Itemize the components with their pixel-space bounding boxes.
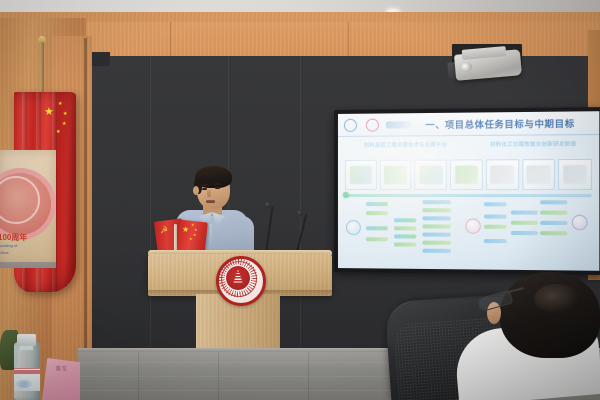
conference-room-photo: 一、项目总体任务目标与中期目标 材料基因工程关键技术与支撑平台 材料化工过程智能…: [0, 0, 600, 400]
bottle-label-emblem: [16, 380, 32, 388]
desk-flag-star-large: ★: [182, 226, 190, 235]
slide-pill: [484, 214, 507, 218]
acoustic-panel-seam: [300, 56, 301, 356]
timeline-marker: [343, 192, 349, 198]
name-card-text: 座位: [56, 366, 76, 372]
slide-pill: [366, 237, 388, 241]
slide-pill: [422, 216, 451, 220]
projection-screen-bezel: 一、项目总体任务目标与中期目标 材料基因工程关键技术与支撑平台 材料化工过程智能…: [334, 107, 600, 275]
poster-subline-1: Founding of: [0, 243, 17, 248]
speaker-ear: [193, 186, 199, 195]
logo-wordmark: [386, 121, 412, 128]
speaker-mouth: [206, 200, 215, 203]
slide-pill: [394, 226, 416, 230]
flag-star-small: ★: [58, 100, 62, 109]
desk-flag-star-small: ★: [189, 238, 193, 242]
slide-pill: [540, 231, 567, 235]
slide-pill: [511, 210, 538, 214]
slide-pill: [540, 221, 567, 225]
slide-thumbnail: 中试放大: [522, 159, 555, 190]
gooseneck-mic-left-head-icon: [265, 202, 271, 208]
slide-pill: [394, 234, 416, 238]
slide-pill: [366, 202, 388, 206]
slide-pill: [422, 232, 451, 236]
pillar-edge-shadow: [84, 38, 87, 400]
slide-title: 一、项目总体任务目标与中期目标: [412, 116, 599, 131]
flag-star-small: ★: [62, 120, 66, 129]
projection-screen[interactable]: 一、项目总体任务目标与中期目标 材料基因工程关键技术与支撑平台 材料化工过程智能…: [338, 111, 599, 271]
speaker-nose: [207, 190, 211, 197]
slide-badge-1: [346, 220, 361, 235]
flag-star-small: ★: [63, 110, 67, 119]
slide-pill: [394, 242, 416, 246]
slide-pill: [422, 224, 451, 228]
slide-badge-2: [465, 218, 480, 233]
logo-circle-blue-icon: [344, 118, 357, 131]
slide-pill: [422, 200, 451, 204]
poster-subline-2: China: [0, 250, 8, 255]
slide-thumbnail: 高通量表征: [415, 160, 447, 190]
slide-pill: [511, 221, 538, 225]
slide-badge-3: [572, 215, 588, 231]
slide-thumbnail: 数据库: [450, 159, 483, 190]
slide-thumbnail: 高通量计算: [345, 160, 377, 190]
slide-pill: [422, 241, 451, 245]
slide-pill: [511, 231, 538, 235]
bottle-label-stripe: [14, 370, 40, 374]
slide-header: 一、项目总体任务目标与中期目标: [338, 111, 599, 137]
slide-section-caption-1: 材料基因工程关键技术与支撑平台: [364, 141, 447, 149]
slide-thumbnail-row: 高通量计算 高通量制备 高通量表征 数据库 智能设计 中试放大 装备集成: [345, 159, 592, 190]
slide-section-caption-2: 材料化工过程智能化创新研发制造: [490, 140, 576, 148]
slide-timeline-bar: [345, 194, 592, 197]
logo-circle-red-icon: [366, 118, 379, 131]
gooseneck-mic-right-head-icon: [297, 210, 303, 216]
slide-pill: [484, 202, 507, 206]
slide-pill: [484, 225, 507, 229]
desk-flag-star-small: ★: [193, 234, 197, 238]
poster-headline: 100周年: [0, 232, 27, 243]
bottle-cap: [17, 334, 36, 346]
slide-pill: [394, 218, 416, 222]
slide-pill: [366, 226, 388, 230]
slide-thumbnail: 智能设计: [486, 159, 519, 190]
slide-thumbnail: 装备集成: [558, 159, 592, 190]
flag-star-large: ★: [44, 108, 54, 117]
slide-pill: [366, 211, 388, 215]
speaker-eyebrow-right: [214, 183, 221, 185]
slide-pill: [422, 249, 451, 253]
attendee-hair-highlight: [534, 284, 580, 314]
name-tent-card: [42, 358, 80, 400]
slide-pill: [540, 211, 567, 215]
slide-pill: [484, 239, 507, 243]
hammer-and-sickle-icon: ☭: [159, 226, 168, 236]
slide-thumbnail: 高通量制备: [380, 160, 412, 190]
slide-pill: [540, 200, 567, 204]
speaker-eyebrow-left: [202, 184, 209, 186]
slide-pill: [422, 208, 451, 212]
flag-star-small: ★: [56, 128, 60, 137]
acoustic-panel-seam: [150, 56, 151, 356]
poster-footer-band: [0, 262, 56, 268]
